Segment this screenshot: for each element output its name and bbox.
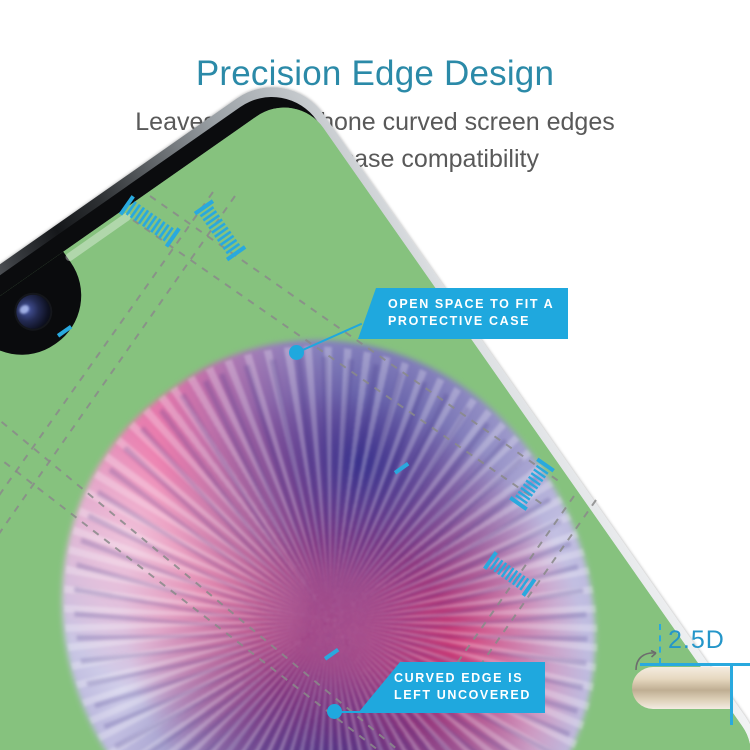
edge-profile-right-line bbox=[730, 663, 733, 725]
callout-curved-edge-line-2: LEFT UNCOVERED bbox=[394, 687, 531, 704]
edge-profile-dashed-line bbox=[659, 624, 661, 664]
callout-open-space-line-1: OPEN SPACE TO FIT A bbox=[388, 296, 554, 313]
edge-profile-top-line bbox=[640, 663, 750, 666]
page-subtitle-line-2: exposedfor case compatibility bbox=[0, 145, 750, 174]
glass-edge-profile bbox=[632, 667, 732, 709]
edge-profile-diagram: 2.5D bbox=[632, 626, 750, 750]
callout-open-space: OPEN SPACE TO FIT A PROTECTIVE CASE bbox=[358, 288, 568, 339]
page-subtitle-line-1: Leaves Mobile Phone curved screen edges bbox=[0, 108, 750, 137]
edge-profile-label: 2.5D bbox=[668, 626, 725, 655]
page-title: Precision Edge Design bbox=[0, 54, 750, 94]
product-feature-image: Precision Edge Design Leaves Mobile Phon… bbox=[0, 0, 750, 750]
callout-curved-edge-line-1: CURVED EDGE IS bbox=[394, 670, 531, 687]
callout-open-space-line-2: PROTECTIVE CASE bbox=[388, 313, 554, 330]
front-camera-icon bbox=[10, 288, 57, 335]
